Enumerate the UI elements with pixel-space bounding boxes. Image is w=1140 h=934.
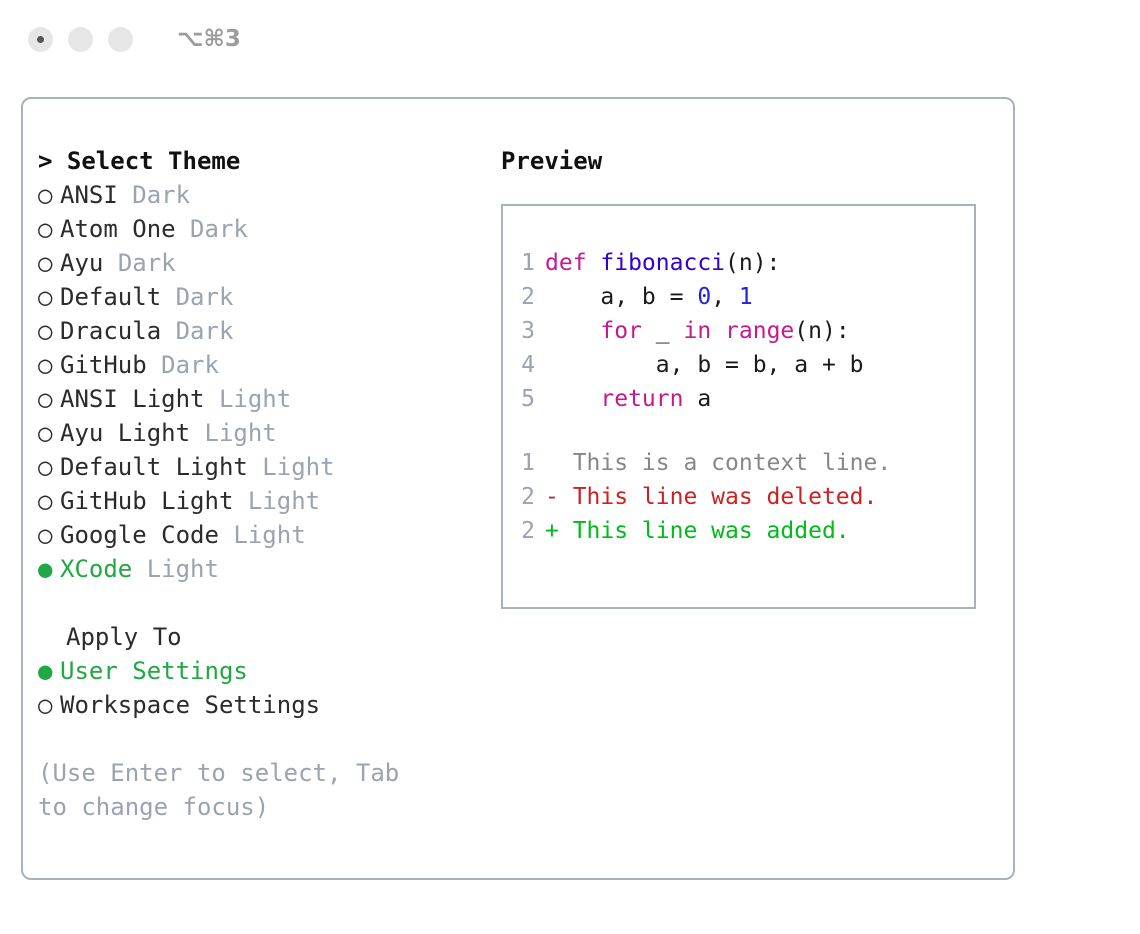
preview-heading: Preview [501,144,1001,178]
theme-option-category: Light [147,555,219,583]
line-number: 4 [515,348,535,382]
apply-to-option-row[interactable]: ○Workspace Settings [38,688,478,722]
preview-gap [515,416,974,446]
code-token [711,318,725,344]
radio-unselected-icon[interactable]: ○ [38,280,60,314]
line-number: 2 [515,280,535,314]
apply-to-option-name: User Settings [60,657,248,685]
keyboard-shortcut-label: ⌥⌘3 [177,26,241,52]
code-token [545,318,600,344]
theme-option-name: Default Light [60,453,248,481]
radio-unselected-icon[interactable]: ○ [38,246,60,280]
theme-option-category: Dark [161,351,219,379]
traffic-light-dot-icon [37,36,44,43]
theme-option-name: Ayu [60,249,103,277]
theme-selector-card: > Select Theme ○ANSI Dark○Atom One Dark○… [21,97,1015,880]
theme-option-row[interactable]: ○Dracula Dark [38,314,478,348]
theme-option-name: GitHub [60,351,147,379]
theme-option-category: Dark [118,249,176,277]
theme-option-category: Light [262,453,334,481]
theme-picker-heading: > Select Theme [38,144,478,178]
code-line: 1def fibonacci(n): [515,246,974,280]
radio-selected-icon[interactable]: ● [38,654,60,688]
radio-unselected-icon[interactable]: ○ [38,518,60,552]
theme-option-name: Dracula [60,317,161,345]
code-line: 5 return a [515,382,974,416]
theme-option-name: Google Code [60,521,219,549]
theme-option-name: Ayu Light [60,419,190,447]
theme-option-row[interactable]: ○GitHub Light Light [38,484,478,518]
code-token: 0 [697,284,711,310]
app-window: ⌥⌘3 > Select Theme ○ANSI Dark○Atom One D… [0,0,1140,934]
theme-option-category: Light [219,385,291,413]
theme-option-name: Default [60,283,161,311]
theme-option-category: Light [233,521,305,549]
code-token: This is a context line. [545,450,891,476]
preview-box: 1def fibonacci(n):2 a, b = 0, 13 for _ i… [501,204,976,609]
code-line: 3 for _ in range(n): [515,314,974,348]
theme-option-row[interactable]: ○ANSI Light Light [38,382,478,416]
code-token: range [725,318,794,344]
code-token: def [545,250,600,276]
code-token: a, b = b, a + b [545,352,864,378]
theme-option-name: ANSI Light [60,385,205,413]
apply-to-heading: Apply To [38,620,478,654]
line-number: 5 [515,382,535,416]
radio-unselected-icon[interactable]: ○ [38,212,60,246]
theme-option-row[interactable]: ○Ayu Dark [38,246,478,280]
theme-option-name: Atom One [60,215,176,243]
line-number: 2 [515,514,535,548]
radio-unselected-icon[interactable]: ○ [38,178,60,212]
keyboard-hint-text: (Use Enter to select, Tab to change focu… [38,756,438,824]
apply-to-option-name: Workspace Settings [60,691,320,719]
radio-selected-icon[interactable]: ● [38,552,60,586]
code-token: (n): [794,318,849,344]
radio-unselected-icon[interactable]: ○ [38,348,60,382]
code-sample: 1def fibonacci(n):2 a, b = 0, 13 for _ i… [515,246,974,416]
radio-unselected-icon[interactable]: ○ [38,450,60,484]
code-token: fibonacci [600,250,725,276]
code-line: 4 a, b = b, a + b [515,348,974,382]
theme-option-name: XCode [60,555,132,583]
code-token: return [600,386,683,412]
theme-option-row[interactable]: ○ANSI Dark [38,178,478,212]
theme-list: ○ANSI Dark○Atom One Dark○Ayu Dark○Defaul… [38,178,478,586]
radio-unselected-icon[interactable]: ○ [38,484,60,518]
theme-option-row[interactable]: ○Default Light Light [38,450,478,484]
theme-option-category: Dark [132,181,190,209]
theme-option-row[interactable]: ○Ayu Light Light [38,416,478,450]
theme-option-row[interactable]: ○Default Dark [38,280,478,314]
theme-option-row[interactable]: ○Google Code Light [38,518,478,552]
code-token: in [683,318,711,344]
code-token: (n): [725,250,780,276]
code-token: 1 [739,284,753,310]
theme-picker-panel: > Select Theme ○ANSI Dark○Atom One Dark○… [38,144,478,824]
preview-panel: Preview 1def fibonacci(n):2 a, b = 0, 13… [501,144,1001,609]
diff-line: 2+ This line was added. [515,514,974,548]
diff-line: 2- This line was deleted. [515,480,974,514]
code-token: _ [642,318,684,344]
apply-to-list: ●User Settings○Workspace Settings [38,654,478,722]
theme-option-row[interactable]: ●XCode Light [38,552,478,586]
list-spacer [38,586,478,620]
line-number: 1 [515,446,535,480]
code-token: + This line was added. [545,518,850,544]
code-line: 2 a, b = 0, 1 [515,280,974,314]
traffic-light-button-2[interactable] [68,27,93,52]
line-number: 1 [515,246,535,280]
code-token [545,386,600,412]
code-token: - This line was deleted. [545,484,877,510]
code-token: , [711,284,739,310]
theme-option-category: Light [248,487,320,515]
radio-unselected-icon[interactable]: ○ [38,416,60,450]
diff-sample: 1 This is a context line.2- This line wa… [515,446,974,548]
radio-unselected-icon[interactable]: ○ [38,314,60,348]
line-number: 2 [515,480,535,514]
theme-option-category: Light [205,419,277,447]
theme-option-row[interactable]: ○GitHub Dark [38,348,478,382]
traffic-light-button-3[interactable] [108,27,133,52]
theme-option-category: Dark [176,317,234,345]
radio-unselected-icon[interactable]: ○ [38,688,60,722]
theme-option-category: Dark [176,283,234,311]
traffic-light-button-1[interactable] [28,27,53,52]
code-token: a [683,386,711,412]
diff-line: 1 This is a context line. [515,446,974,480]
theme-option-name: GitHub Light [60,487,233,515]
theme-option-name: ANSI [60,181,118,209]
code-token: for [600,318,642,344]
code-token: a, b = [545,284,697,310]
theme-option-category: Dark [190,215,248,243]
theme-option-row[interactable]: ○Atom One Dark [38,212,478,246]
apply-to-option-row[interactable]: ●User Settings [38,654,478,688]
line-number: 3 [515,314,535,348]
radio-unselected-icon[interactable]: ○ [38,382,60,416]
title-bar: ⌥⌘3 [0,0,1140,78]
